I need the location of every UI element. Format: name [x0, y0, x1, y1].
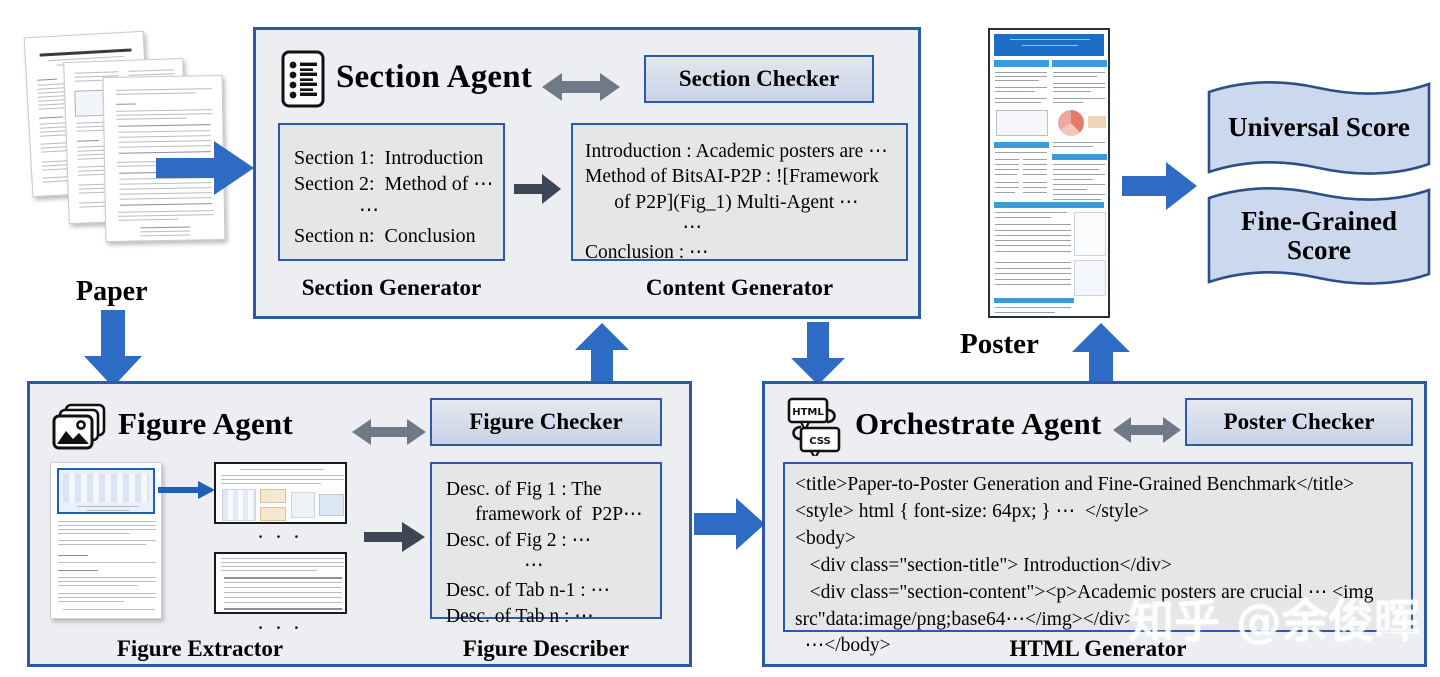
orchestrate-agent-panel: HTML CSS Orchestrate Agent Poster Checke… [762, 381, 1427, 667]
svg-text:HTML: HTML [792, 407, 824, 418]
figure-highlight-box [57, 468, 155, 514]
code-line-style: <style> html { font-size: 64px; } ⋯ </st… [795, 499, 1403, 526]
code-line-seccontent: <div class="section-content"><p>Academic… [795, 580, 1403, 607]
double-arrow-icon-figure [352, 416, 426, 448]
double-arrow-icon-orchestrate [1113, 414, 1181, 446]
poster-thumbnail [988, 28, 1110, 318]
arrow-paper-to-figure-agent [82, 310, 144, 388]
arrow-section-to-content [514, 172, 562, 206]
arrow-orchestrate-to-poster [1070, 322, 1132, 388]
orchestrate-agent-title: Orchestrate Agent [855, 406, 1101, 442]
paper-label: Paper [76, 276, 148, 308]
arrow-section-to-orchestrate [789, 322, 847, 386]
poster-label: Poster [960, 328, 1039, 361]
section-agent-panel: Section Agent Section Checker Section 1:… [253, 27, 921, 319]
html-code-block: <title>Paper-to-Poster Generation and Fi… [783, 462, 1413, 632]
fine-grained-score-banner: Fine-Grained Score [1205, 182, 1433, 290]
section-agent-title: Section Agent [336, 59, 532, 96]
extracted-table-card [214, 552, 347, 614]
arrow-poster-to-scores [1122, 160, 1198, 212]
figure-agent-title: Figure Agent [118, 406, 293, 442]
section-generator-label: Section Generator [278, 275, 505, 301]
arrow-paper-to-section-agent [156, 137, 256, 199]
figure-extractor-bottom-dots: · · · [214, 618, 347, 638]
extracted-figure-card [214, 462, 347, 524]
figure-description-text: Desc. of Fig 1 : The framework of P2P⋯ D… [446, 477, 643, 629]
double-arrow-icon-section [542, 70, 620, 104]
section-list-text: Section 1: Introduction Section 2: Metho… [294, 145, 493, 249]
section-checker-button[interactable]: Section Checker [644, 55, 874, 103]
content-generator-label: Content Generator [571, 275, 908, 301]
code-line-sectitle: <div class="section-title"> Introduction… [795, 553, 1403, 580]
content-output-text: Introduction : Academic posters are ⋯ Me… [585, 139, 888, 266]
image-stack-icon [52, 402, 108, 452]
html-css-icon: HTML CSS [783, 396, 845, 456]
code-line-title: <title>Paper-to-Poster Generation and Fi… [795, 472, 1403, 499]
html-generator-label: HTML Generator [783, 636, 1413, 662]
figure-describer-label: Figure Describer [430, 636, 662, 662]
universal-score-label: Universal Score [1205, 78, 1433, 178]
diagram-canvas: Paper Section Agent [0, 0, 1440, 677]
arrow-page-to-figure-card [158, 479, 216, 501]
arrow-extractor-to-describer [364, 520, 426, 554]
figure-agent-panel: Figure Agent Figure Checker [27, 381, 692, 667]
code-line-img: src"data:image/png;base64⋯</img></div> [795, 607, 1403, 634]
section-checker-label: Section Checker [679, 66, 839, 92]
fine-grained-score-label: Fine-Grained Score [1205, 182, 1433, 290]
content-output-box: Introduction : Academic posters are ⋯ Me… [571, 123, 908, 261]
section-list-box: Section 1: Introduction Section 2: Metho… [278, 123, 505, 261]
figure-card-dots: · · · [214, 527, 347, 547]
figure-checker-label: Figure Checker [469, 409, 623, 435]
arrow-figure-to-section [573, 322, 631, 386]
figure-extractor-label: Figure Extractor [50, 636, 350, 662]
poster-checker-button[interactable]: Poster Checker [1185, 398, 1413, 446]
list-document-icon [281, 50, 325, 108]
figure-checker-button[interactable]: Figure Checker [430, 398, 662, 446]
universal-score-banner: Universal Score [1205, 78, 1433, 178]
code-line-body: <body> [795, 526, 1403, 553]
poster-checker-label: Poster Checker [1224, 409, 1375, 435]
arrow-figure-to-orchestrate [694, 495, 766, 553]
figure-description-box: Desc. of Fig 1 : The framework of P2P⋯ D… [430, 462, 662, 619]
svg-text:CSS: CSS [809, 436, 830, 447]
source-document-page [50, 462, 162, 619]
